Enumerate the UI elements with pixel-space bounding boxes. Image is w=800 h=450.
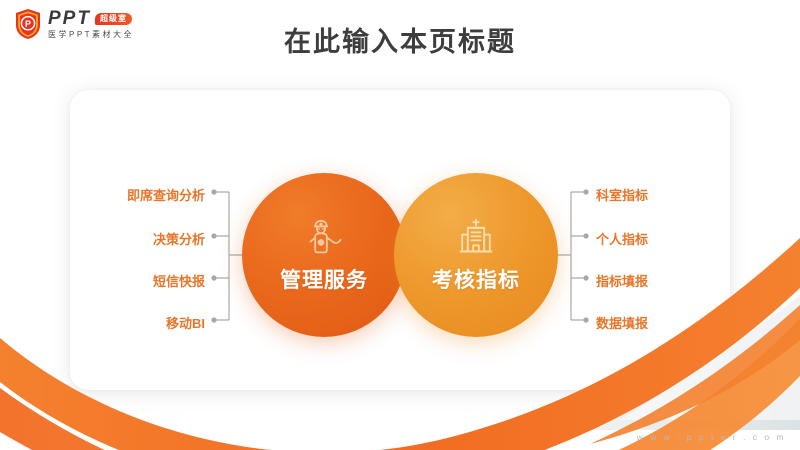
right-item-label-1[interactable]: 科室指标 <box>596 185 766 204</box>
doctor-icon <box>302 216 346 260</box>
circle-management-service[interactable]: 管理服务 <box>242 173 406 337</box>
circle-label-assessment-index: 考核指标 <box>432 264 520 294</box>
circle-assessment-index[interactable]: 考核指标 <box>394 173 558 337</box>
right-item-label-3[interactable]: 指标填报 <box>596 271 766 290</box>
left-item-label-4[interactable]: 移动BI <box>40 313 205 332</box>
circle-label-management-service: 管理服务 <box>280 264 368 294</box>
left-item-label-1[interactable]: 即席查询分析 <box>40 185 205 204</box>
left-item-label-2[interactable]: 决策分析 <box>40 229 205 248</box>
watermark-url: w w w . p p t e r . c o m <box>637 432 786 442</box>
hospital-building-icon <box>454 216 498 260</box>
slide-canvas: P PPT 超级室 医学PPT素材大全 在此输入本页标题 <box>0 0 800 450</box>
right-item-label-2[interactable]: 个人指标 <box>596 229 766 248</box>
left-item-label-3[interactable]: 短信快报 <box>40 271 205 290</box>
right-item-label-4[interactable]: 数据填报 <box>596 313 766 332</box>
page-title: 在此输入本页标题 <box>0 20 800 59</box>
